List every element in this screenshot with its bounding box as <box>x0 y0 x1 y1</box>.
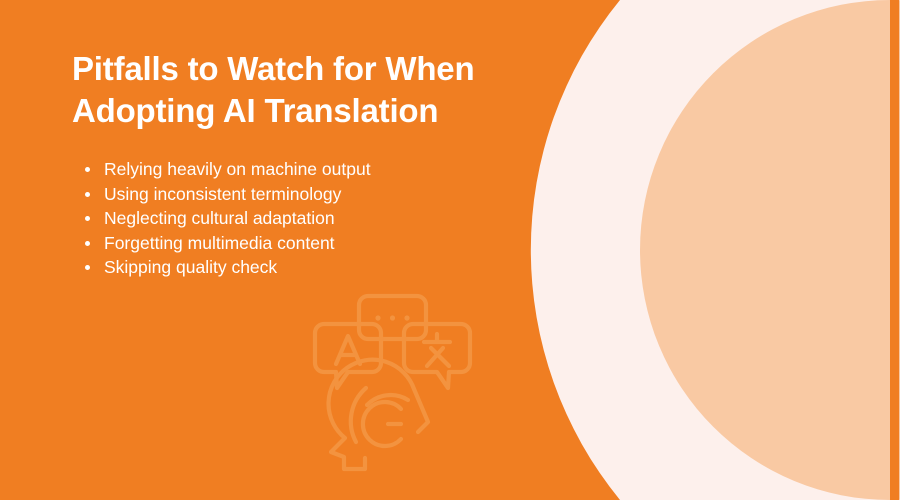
bullet-dot-icon <box>85 192 90 197</box>
list-item: Using inconsistent terminology <box>72 182 542 206</box>
list-item-label: Relying heavily on machine output <box>104 159 371 179</box>
slide-content: Pitfalls to Watch for When Adopting AI T… <box>0 0 900 500</box>
cjk-bubble-icon <box>404 324 470 388</box>
brain-arc-icon <box>367 395 408 405</box>
list-item-label: Skipping quality check <box>104 257 277 277</box>
latin-bubble-icon <box>315 324 381 388</box>
list-item-label: Using inconsistent terminology <box>104 184 341 204</box>
g-spiral-icon <box>363 402 401 446</box>
bullet-dot-icon <box>85 216 90 221</box>
dots-bubble-icon <box>359 296 426 339</box>
ai-translation-icon <box>310 292 480 472</box>
slide-canvas: Pitfalls to Watch for When Adopting AI T… <box>0 0 900 500</box>
list-item: Skipping quality check <box>72 255 542 279</box>
brain-arc-outer-icon <box>351 388 366 442</box>
list-item: Neglecting cultural adaptation <box>72 206 542 230</box>
pitfalls-list: Relying heavily on machine output Using … <box>72 157 542 280</box>
page-title: Pitfalls to Watch for When Adopting AI T… <box>72 48 542 131</box>
bubble-dot-icon <box>390 315 395 320</box>
list-item: Relying heavily on machine output <box>72 157 542 181</box>
bullet-dot-icon <box>85 265 90 270</box>
bubble-dot-icon <box>375 315 380 320</box>
list-item-label: Neglecting cultural adaptation <box>104 208 335 228</box>
cjk-glyph <box>424 334 450 366</box>
bullet-dot-icon <box>85 167 90 172</box>
letter-a-glyph <box>336 336 360 364</box>
head-neck-icon <box>414 389 428 432</box>
list-item-label: Forgetting multimedia content <box>104 233 335 253</box>
bullet-dot-icon <box>85 241 90 246</box>
head-profile-icon <box>329 360 414 469</box>
bubble-dot-icon <box>404 315 409 320</box>
list-item: Forgetting multimedia content <box>72 231 542 255</box>
